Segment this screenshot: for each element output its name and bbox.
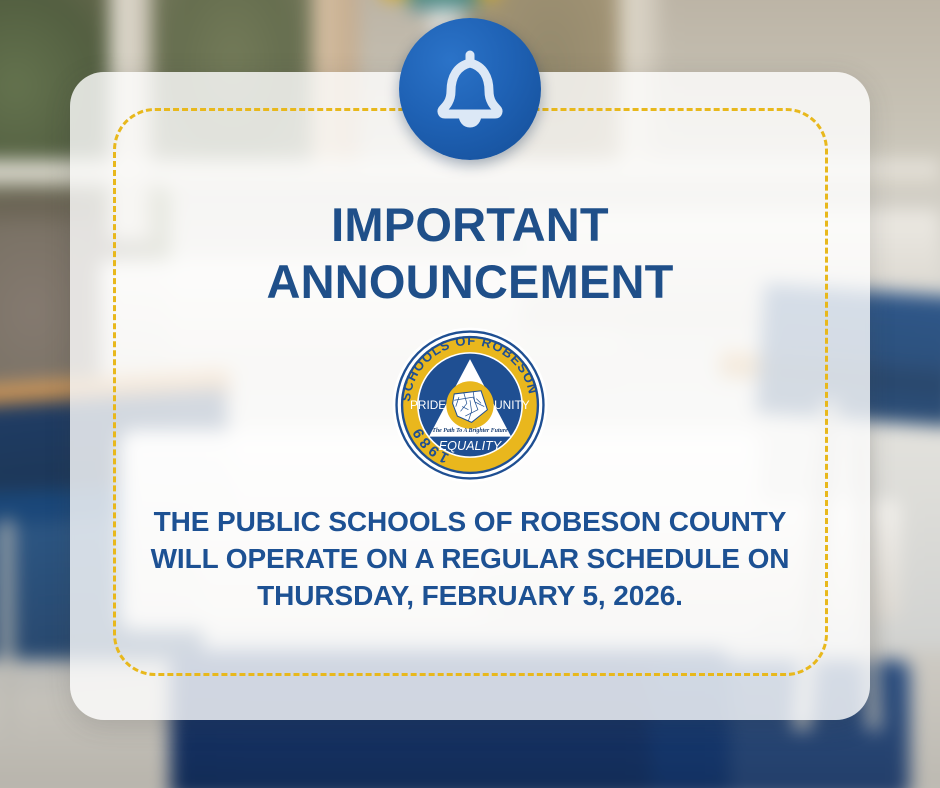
seal-motto: The Path To A Brighter Future [432, 428, 508, 434]
title-line-2: ANNOUNCEMENT [70, 253, 870, 310]
seal-value-pride: PRIDE [410, 398, 446, 412]
message-line-1: THE PUBLIC SCHOOLS OF ROBESON COUNTY [115, 503, 825, 540]
district-seal: PUBLIC SCHOOLS OF ROBESON COUNTY 1989 [391, 326, 549, 484]
message-line-3: THURSDAY, FEBRUARY 5, 2026. [115, 577, 825, 614]
seal-value-unity: UNITY [494, 398, 530, 412]
page-title: IMPORTANT ANNOUNCEMENT [70, 196, 870, 310]
chair-leg-left [0, 520, 13, 740]
title-line-1: IMPORTANT [70, 196, 870, 253]
announcement-graphic: IMPORTANT ANNOUNCEMENT PUBLIC SCHOOLS OF… [0, 0, 940, 788]
seal-value-equality: EQUALITY [439, 439, 503, 453]
bell-icon [399, 18, 541, 160]
teal-object-top [408, 0, 478, 10]
announcement-message: THE PUBLIC SCHOOLS OF ROBESON COUNTY WIL… [115, 503, 825, 614]
message-line-2: WILL OPERATE ON A REGULAR SCHEDULE ON [115, 540, 825, 577]
